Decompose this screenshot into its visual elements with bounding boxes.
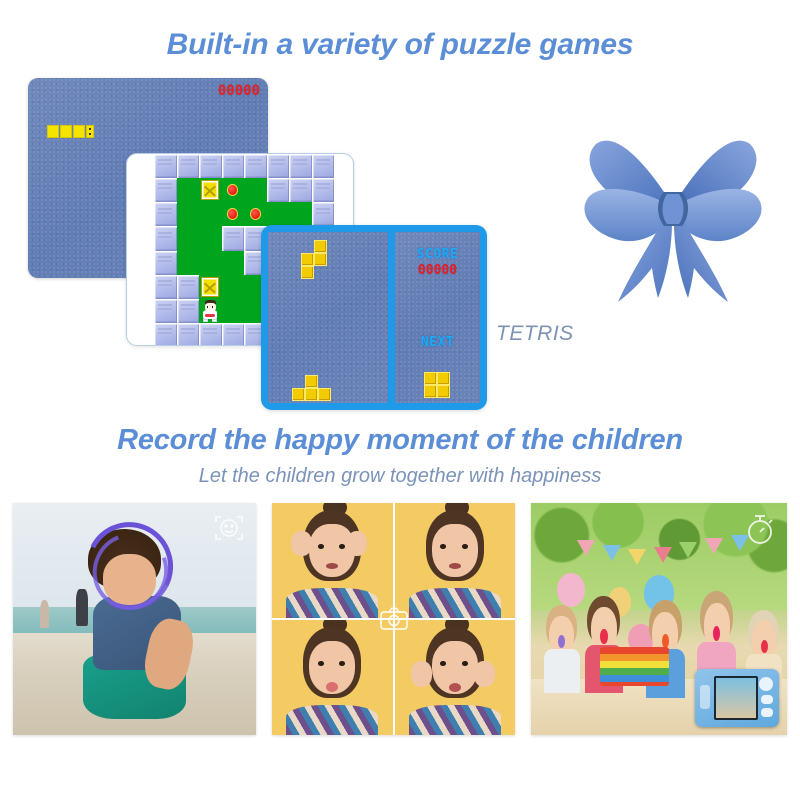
- snake-segment: [47, 125, 59, 138]
- puzzle-games-showcase: 00000 SNAKE: [0, 60, 800, 420]
- burst-frame: [395, 620, 516, 735]
- section-subtitle: Let the children grow together with happ…: [0, 465, 800, 488]
- kids-camera-product: [695, 669, 779, 727]
- burst-frame: [272, 620, 393, 735]
- camera-icon: [379, 606, 409, 632]
- snake-segment: [73, 125, 85, 138]
- burst-frame: [272, 503, 393, 618]
- tetris-game-screen: SCORE 00000 NEXT: [261, 225, 487, 410]
- page-title-puzzle-games: Built-in a variety of puzzle games: [0, 28, 800, 62]
- tetris-sidebar: SCORE 00000 NEXT: [395, 232, 480, 403]
- sokoban-target: [227, 208, 238, 220]
- snake-head: [86, 125, 94, 138]
- sokoban-crate: [201, 180, 219, 200]
- ribbon-bow-icon: [560, 122, 786, 312]
- tetris-next-label: NEXT: [395, 335, 480, 350]
- feature-card-face-recognition[interactable]: [13, 503, 256, 735]
- birthday-cake: [600, 647, 669, 686]
- sokoban-crate: [201, 277, 219, 297]
- tetris-score-label: SCORE: [395, 247, 480, 262]
- feature-card-burst-photo[interactable]: [272, 503, 515, 735]
- product-feature-page: Built-in a variety of puzzle games 00000…: [0, 0, 800, 800]
- section-title-record-moments: Record the happy moment of the children: [0, 424, 800, 457]
- tetris-playfield: [268, 232, 388, 403]
- snake-segment: [60, 125, 72, 138]
- sokoban-target: [250, 208, 261, 220]
- feature-cards: Face Recognition: [0, 503, 800, 743]
- sokoban-target: [227, 184, 238, 196]
- tetris-score-value: 00000: [395, 263, 480, 278]
- game-label-tetris: TETRIS: [496, 322, 574, 346]
- tetris-next-piece: [424, 372, 452, 400]
- snake-body: [47, 125, 94, 138]
- sokoban-player: [201, 299, 220, 323]
- feature-card-time-lapse[interactable]: [531, 503, 787, 735]
- stopwatch-icon: [743, 511, 777, 547]
- snake-score-display: 00000: [218, 83, 260, 99]
- smiley-face-detect-icon: [212, 511, 246, 545]
- burst-frame: [395, 503, 516, 618]
